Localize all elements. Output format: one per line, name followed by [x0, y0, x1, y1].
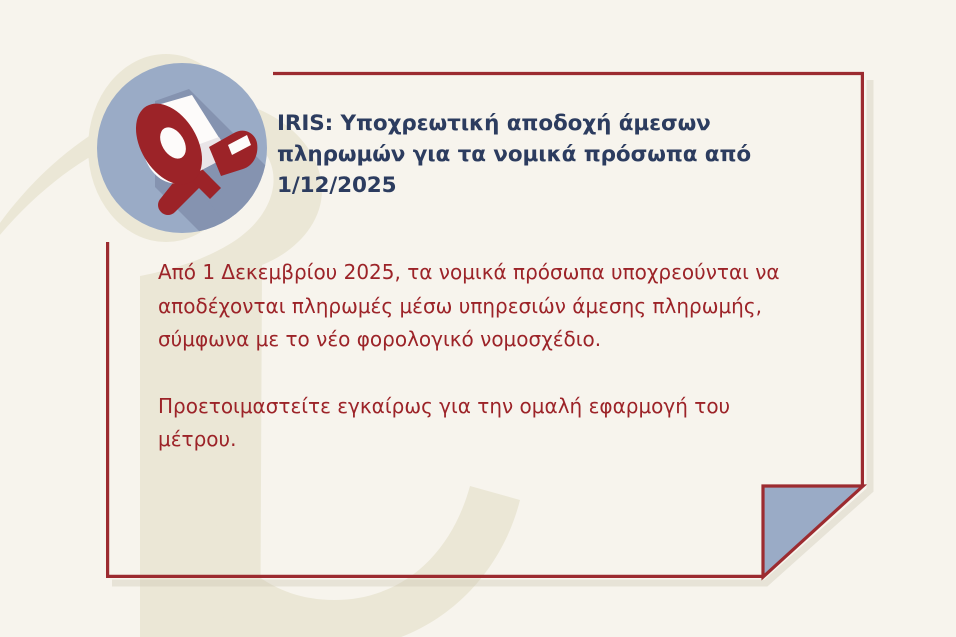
megaphone-badge	[97, 63, 267, 233]
body-paragraph-2: Προετοιμαστείτε εγκαίρως για την ομαλή ε…	[158, 390, 798, 457]
announcement-body: Από 1 Δεκεμβρίου 2025, τα νομικά πρόσωπα…	[158, 256, 798, 457]
paragraph-spacer	[158, 357, 798, 390]
body-paragraph-1: Από 1 Δεκεμβρίου 2025, τα νομικά πρόσωπα…	[158, 256, 798, 357]
announcement-card-canvas: IRIS: Υποχρεωτική αποδοχή άμεσων πληρωμώ…	[0, 0, 956, 637]
page-title: IRIS: Υποχρεωτική αποδοχή άμεσων πληρωμώ…	[277, 108, 822, 201]
